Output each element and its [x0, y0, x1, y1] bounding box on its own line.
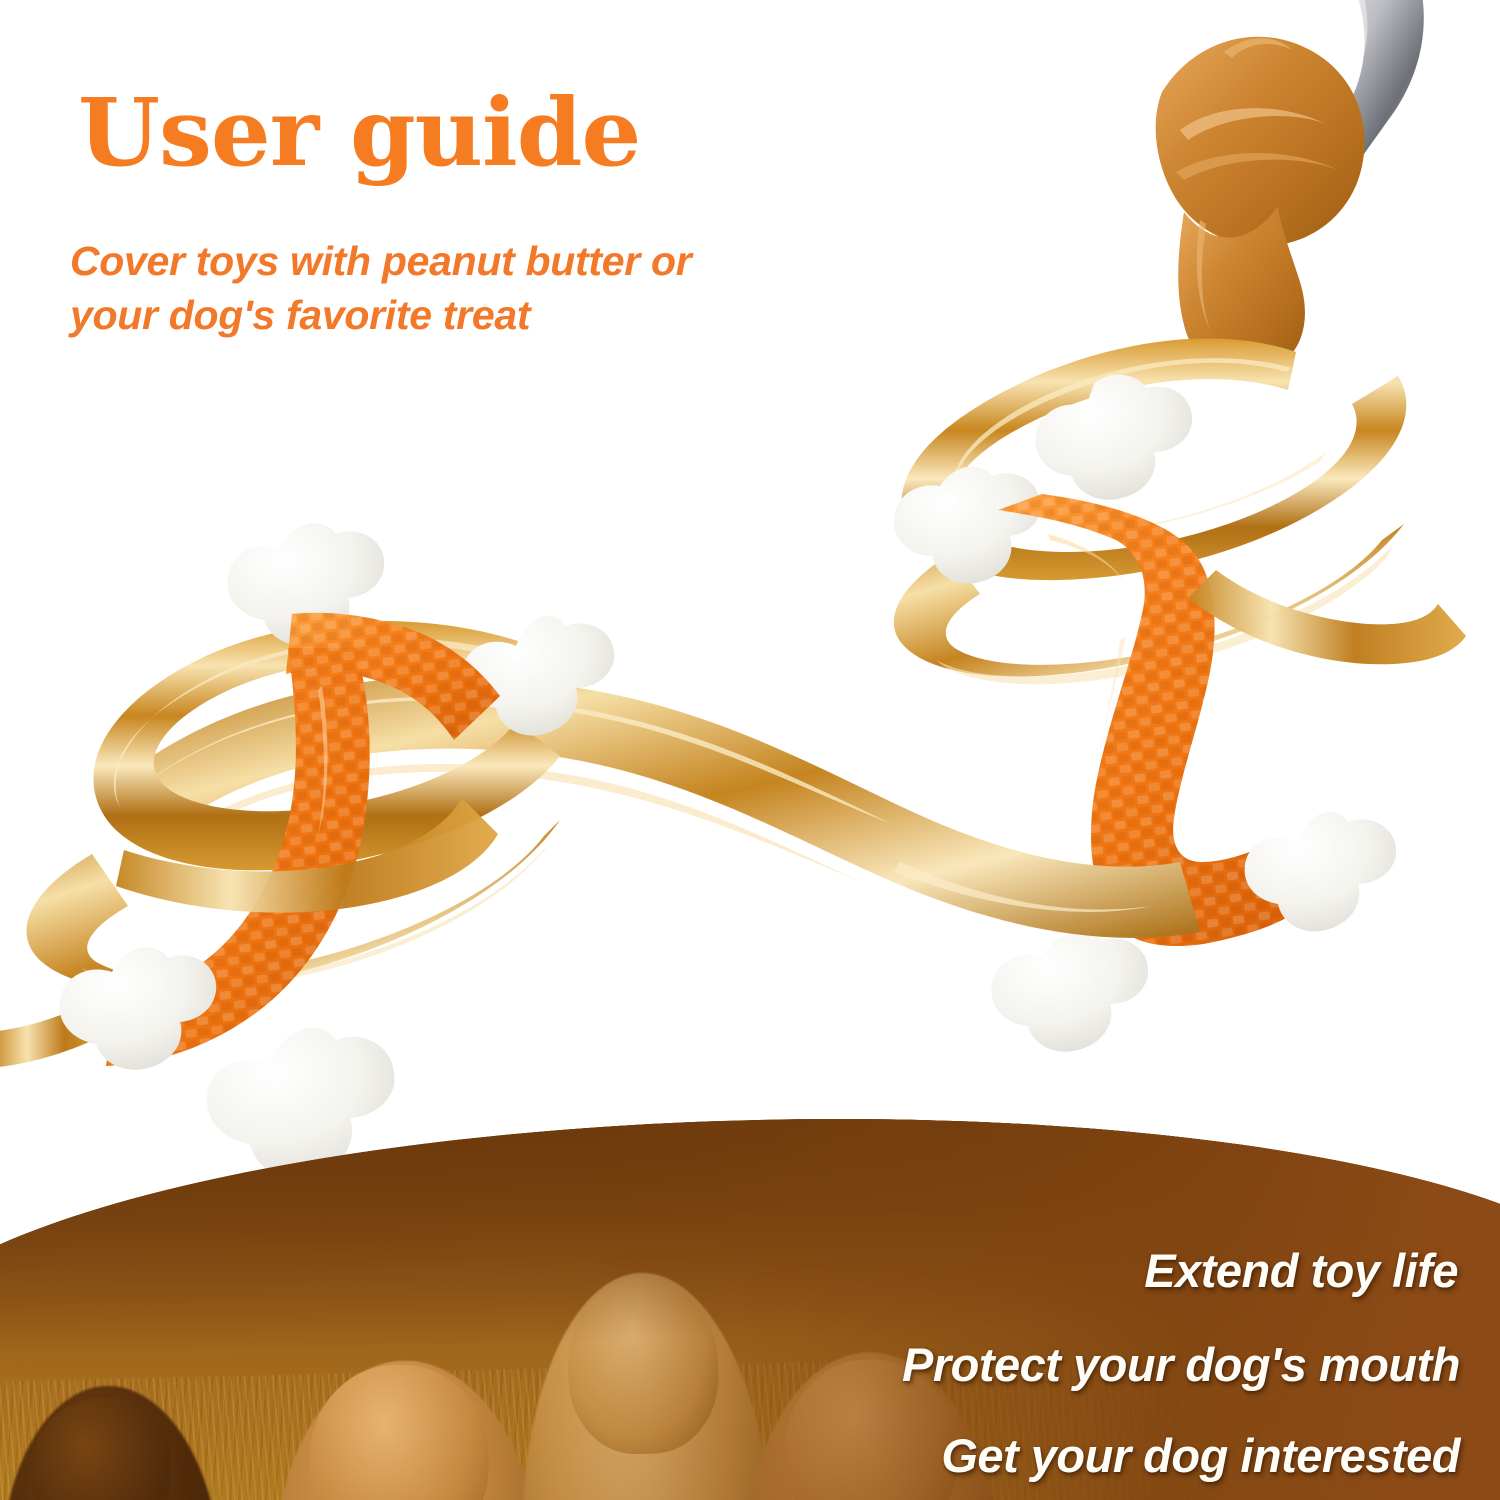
page-title: User guide — [78, 86, 640, 180]
subtitle-line-1: Cover toys with peanut butter or — [70, 234, 940, 288]
dog-bone-chew-toy-right — [894, 375, 1466, 1052]
benefit-protect-mouth: Protect your dog's mouth — [902, 1337, 1460, 1392]
user-guide-infographic: User guide Cover toys with peanut butter… — [0, 0, 1500, 1500]
subtitle-line-2: your dog's favorite treat — [70, 288, 940, 342]
subtitle: Cover toys with peanut butter or your do… — [70, 234, 940, 342]
benefit-get-dog-interested: Get your dog interested — [941, 1428, 1460, 1483]
benefit-extend-toy-life: Extend toy life — [1144, 1243, 1458, 1298]
spoon-with-peanut-butter — [1156, 0, 1424, 246]
dog-bone-chew-toy-left — [59, 523, 614, 1178]
